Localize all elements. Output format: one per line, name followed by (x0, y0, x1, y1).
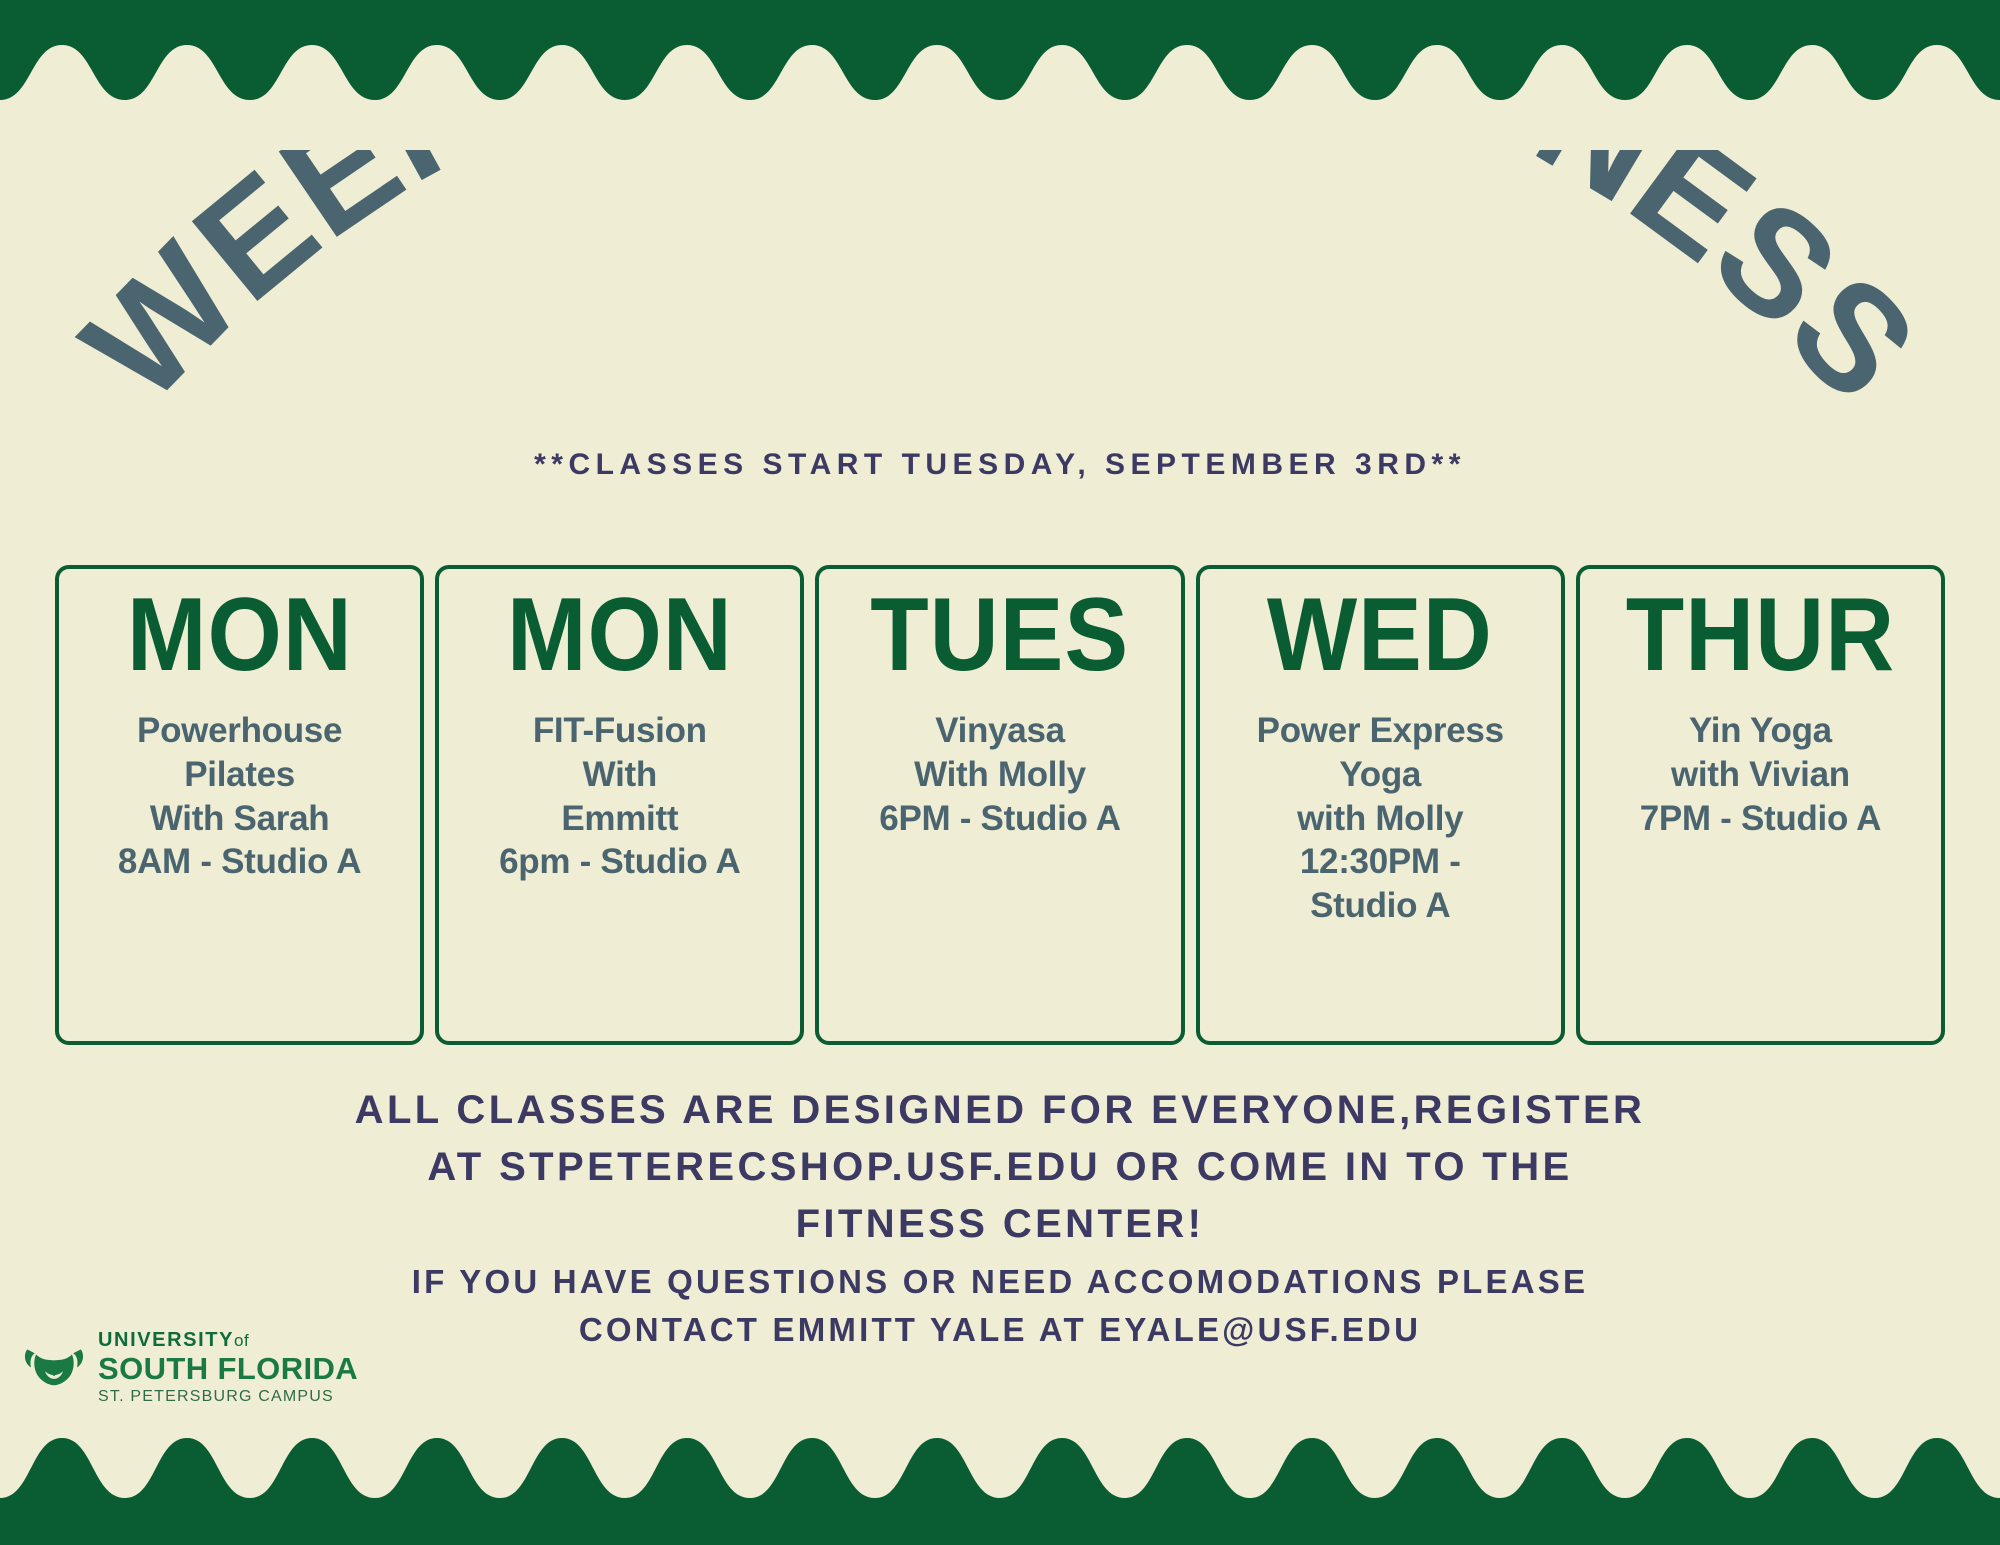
usf-bull-icon (22, 1339, 86, 1397)
bottom-wave-decoration (0, 1420, 2000, 1545)
card-day-label: WED (1267, 583, 1493, 687)
subtitle: **CLASSES START TUESDAY, SEPTEMBER 3RD** (0, 448, 2000, 482)
usf-logo: UNIVERSITYof SOUTH FLORIDA ST. PETERSBUR… (22, 1330, 358, 1405)
page-title-text: WEEKLY GROUP FITNESS (51, 150, 1950, 432)
card-details: Vinyasa With Molly 6PM - Studio A (879, 709, 1120, 840)
usf-logo-wordmark: UNIVERSITYof SOUTH FLORIDA ST. PETERSBUR… (98, 1330, 358, 1405)
card-day-label: MON (507, 583, 733, 687)
class-card-wed-powerexpress[interactable]: WED Power Express Yoga with Molly 12:30P… (1196, 565, 1565, 1045)
class-card-thur-yinyoga[interactable]: THUR Yin Yoga with Vivian 7PM - Studio A (1576, 565, 1945, 1045)
top-wave-decoration (0, 0, 2000, 150)
logo-campus-text: ST. PETERSBURG CAMPUS (98, 1389, 358, 1405)
logo-university-text: UNIVERSITY (98, 1329, 234, 1351)
card-details: Yin Yoga with Vivian 7PM - Studio A (1640, 709, 1881, 840)
class-card-mon-fitfusion[interactable]: MON FIT-Fusion With Emmitt 6pm - Studio … (435, 565, 804, 1045)
card-details: FIT-Fusion With Emmitt 6pm - Studio A (499, 709, 740, 884)
class-card-mon-pilates[interactable]: MON Powerhouse Pilates With Sarah 8AM - … (55, 565, 424, 1045)
registration-info: ALL CLASSES ARE DESIGNED FOR EVERYONE,RE… (0, 1082, 2000, 1252)
class-card-tues-vinyasa[interactable]: TUES Vinyasa With Molly 6PM - Studio A (815, 565, 1184, 1045)
card-details: Power Express Yoga with Molly 12:30PM - … (1257, 709, 1504, 928)
card-day-label: THUR (1626, 583, 1895, 687)
card-day-label: TUES (871, 583, 1130, 687)
card-day-label: MON (127, 583, 353, 687)
logo-south-florida-text: SOUTH FLORIDA (98, 1353, 358, 1384)
logo-of-text: of (234, 1331, 249, 1350)
class-schedule: MON Powerhouse Pilates With Sarah 8AM - … (55, 565, 1945, 1045)
card-details: Powerhouse Pilates With Sarah 8AM - Stud… (118, 709, 361, 884)
page-title: WEEKLY GROUP FITNESS (0, 150, 2000, 440)
